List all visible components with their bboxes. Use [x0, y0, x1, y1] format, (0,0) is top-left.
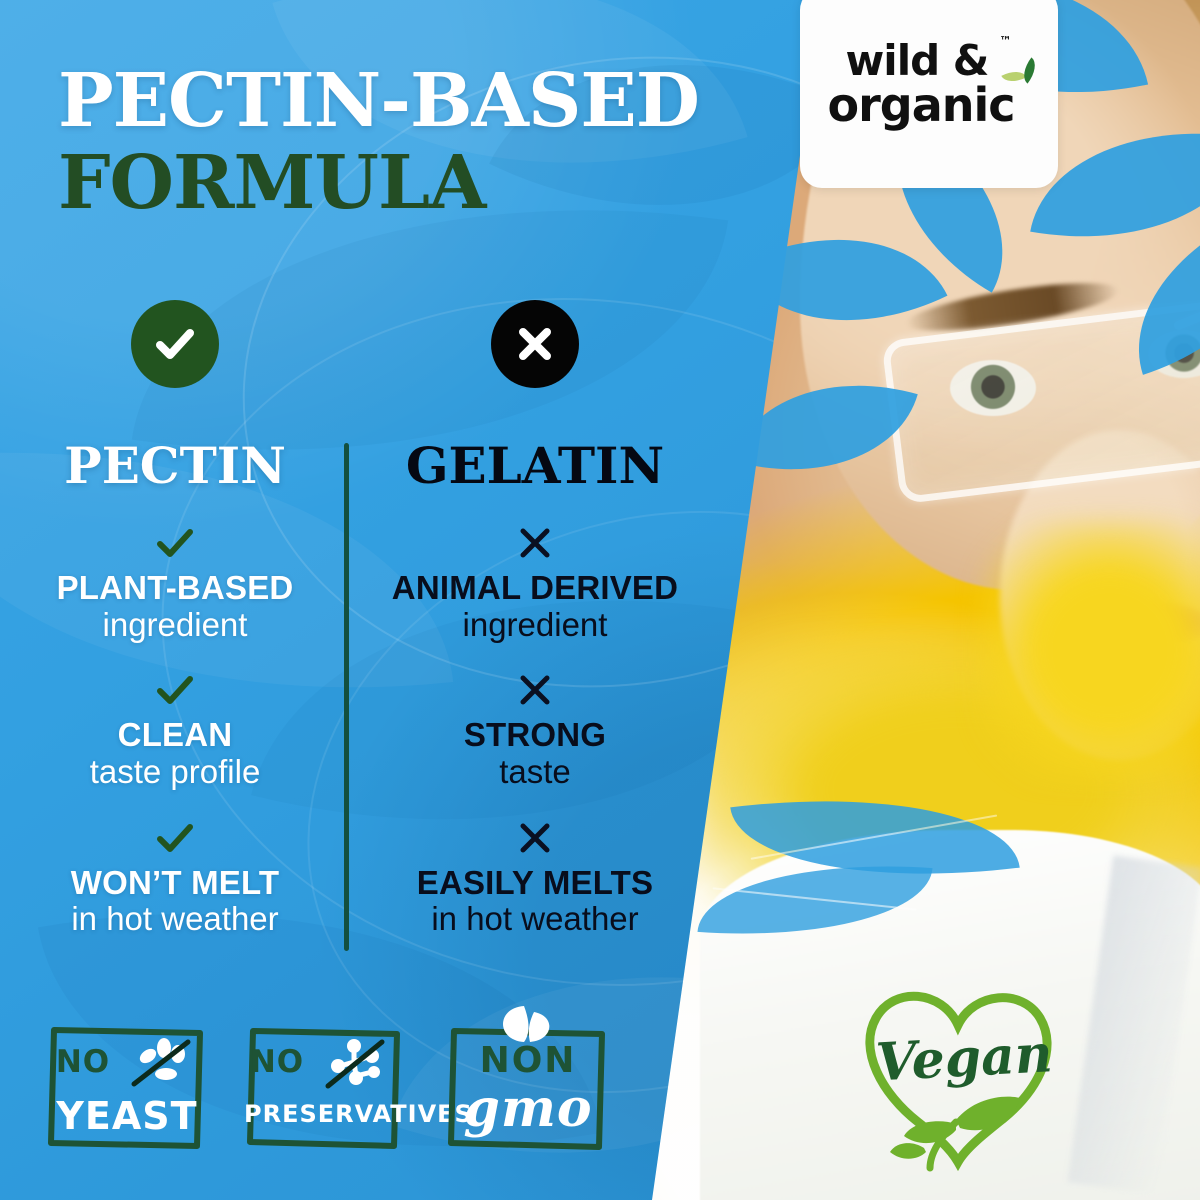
pectin-column: PECTIN PLANT-BASED ingredient CLEAN tast…	[10, 300, 340, 937]
gelatin-title: GELATIN	[370, 436, 700, 495]
yellow-blur-secondary	[980, 520, 1200, 780]
feature-sub: ingredient	[10, 607, 340, 643]
pectin-feature: PLANT-BASED ingredient	[10, 523, 340, 642]
check-circle-icon	[131, 300, 219, 388]
infographic-canvas: PECTIN-BASED FORMULA wild & organic ™ PE…	[0, 0, 1200, 1200]
x-circle-icon	[491, 300, 579, 388]
feature-sub: ingredient	[370, 607, 700, 643]
feature-sub: in hot weather	[370, 901, 700, 937]
pectin-feature: CLEAN taste profile	[10, 670, 340, 789]
pectin-feature: WON’T MELT in hot weather	[10, 818, 340, 937]
x-icon	[370, 670, 700, 710]
no-preservatives-badge: NO PRESERVATIVES	[244, 1022, 406, 1154]
no-yeast-badge: NO YEAST	[44, 1022, 210, 1154]
x-icon	[370, 818, 700, 858]
column-divider	[344, 443, 349, 951]
badge-word: gmo	[444, 1078, 612, 1139]
badge-word: PRESERVATIVES	[244, 1100, 406, 1128]
gelatin-feature: STRONG taste	[370, 670, 700, 789]
gelatin-column: GELATIN ANIMAL DERIVED ingredient STRONG…	[370, 300, 700, 937]
gelatin-feature: EASILY MELTS in hot weather	[370, 818, 700, 937]
trademark-symbol: ™	[1000, 34, 1012, 48]
page-title: PECTIN-BASED FORMULA	[58, 66, 758, 219]
pectin-title: PECTIN	[10, 436, 340, 495]
feature-strong: CLEAN	[10, 718, 340, 752]
gelatin-feature: ANIMAL DERIVED ingredient	[370, 523, 700, 642]
feature-strong: WON’T MELT	[10, 866, 340, 900]
logo-line-2: organic	[828, 82, 1015, 128]
crossed-molecule-icon	[324, 1036, 386, 1092]
badge-prefix: NON	[444, 1040, 612, 1081]
crossed-yeast-icon	[130, 1036, 192, 1092]
check-icon	[10, 670, 340, 710]
feature-strong: STRONG	[370, 718, 700, 752]
feature-sub: in hot weather	[10, 901, 340, 937]
feature-sub: taste	[370, 754, 700, 790]
check-icon	[10, 818, 340, 858]
brand-logo: wild & organic ™	[800, 0, 1058, 188]
feature-strong: EASILY MELTS	[370, 866, 700, 900]
badge-word: YEAST	[44, 1094, 210, 1138]
x-icon	[370, 523, 700, 563]
vegan-label: Vegan	[875, 1024, 1046, 1094]
non-gmo-badge: NON gmo	[444, 1022, 612, 1154]
certification-badges: NO YEAST NO	[44, 1022, 624, 1157]
feature-sub: taste profile	[10, 754, 340, 790]
headline-line-1: PECTIN-BASED	[58, 66, 758, 136]
vegan-badge: Vegan	[838, 970, 1078, 1185]
feature-strong: PLANT-BASED	[10, 571, 340, 605]
feature-strong: ANIMAL DERIVED	[370, 571, 700, 605]
logo-line-1: wild &	[846, 40, 989, 82]
check-icon	[10, 523, 340, 563]
headline-line-2: FORMULA	[58, 148, 758, 218]
